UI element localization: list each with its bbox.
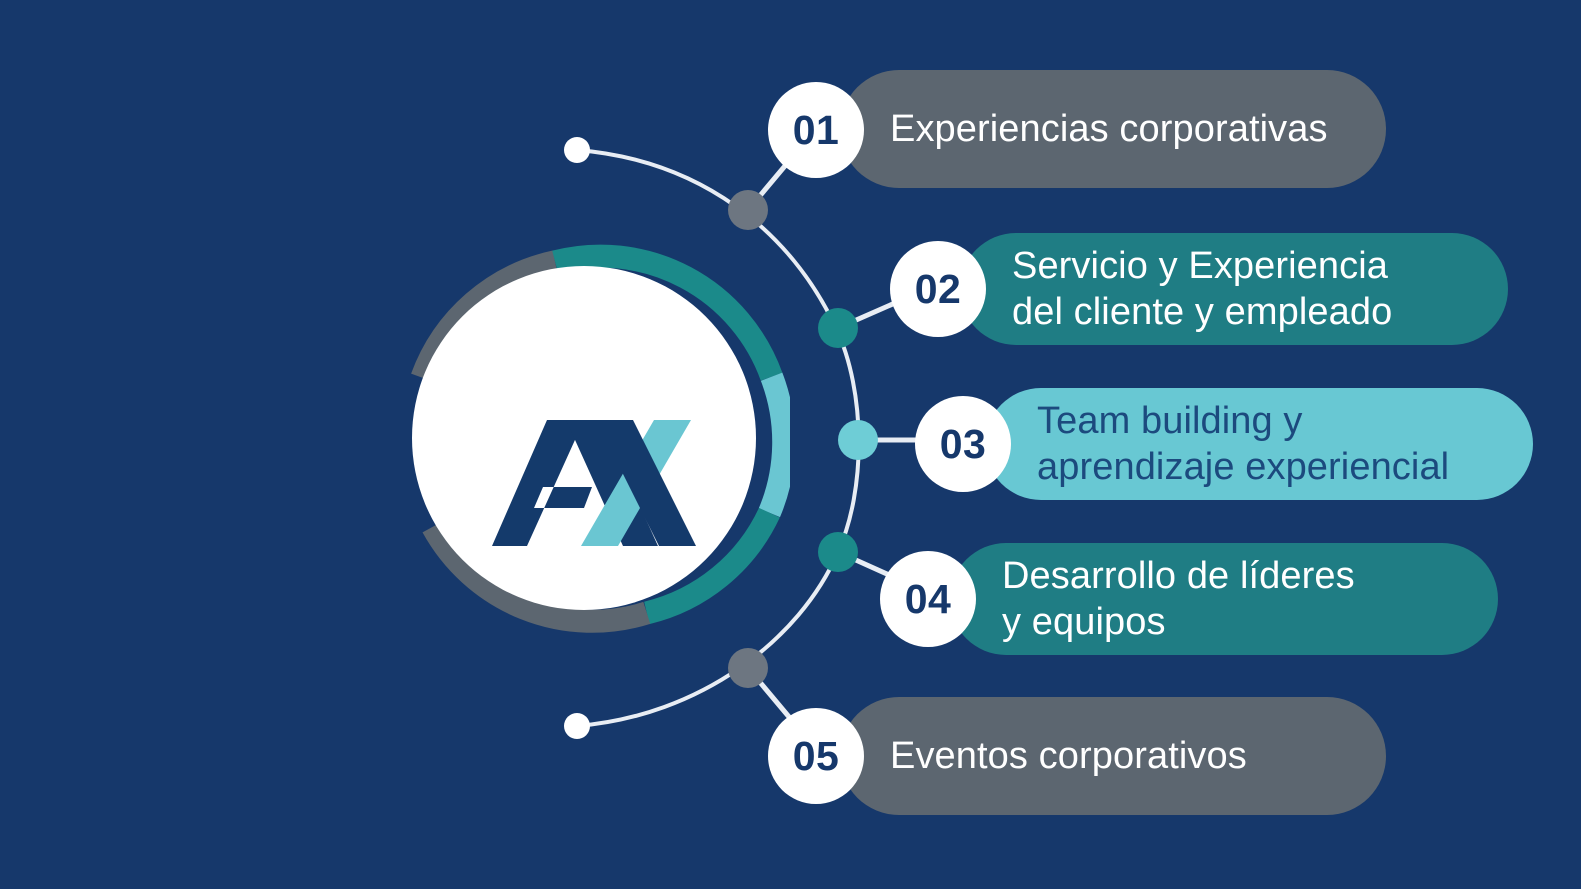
node-dot-05[interactable] bbox=[728, 648, 768, 688]
node-dot-03[interactable] bbox=[838, 420, 878, 460]
node-dot-01[interactable] bbox=[728, 190, 768, 230]
item-number-04: 04 bbox=[905, 576, 952, 623]
node-dot-02[interactable] bbox=[818, 308, 858, 348]
item-label-05: Eventos corporativos bbox=[890, 733, 1247, 779]
item-label-04: Desarrollo de líderes y equipos bbox=[1002, 553, 1355, 646]
ax-logo bbox=[396, 243, 790, 637]
item-pill-03[interactable]: Team building y aprendizaje experiencial bbox=[985, 388, 1533, 500]
item-badge-02[interactable]: 02 bbox=[890, 241, 986, 337]
item-number-02: 02 bbox=[915, 266, 962, 313]
item-number-01: 01 bbox=[793, 107, 840, 154]
item-badge-05[interactable]: 05 bbox=[768, 708, 864, 804]
item-number-05: 05 bbox=[793, 733, 840, 780]
item-pill-01[interactable]: Experiencias corporativas bbox=[840, 70, 1386, 188]
item-pill-02[interactable]: Servicio y Experiencia del cliente y emp… bbox=[960, 233, 1508, 345]
endpoint-dot-top bbox=[564, 137, 590, 163]
item-label-01: Experiencias corporativas bbox=[890, 106, 1328, 152]
infographic-canvas: Experiencias corporativas 01 Servicio y … bbox=[0, 0, 1581, 889]
item-label-02: Servicio y Experiencia del cliente y emp… bbox=[1012, 243, 1392, 336]
item-number-03: 03 bbox=[940, 421, 987, 468]
item-badge-03[interactable]: 03 bbox=[915, 396, 1011, 492]
item-label-03: Team building y aprendizaje experiencial bbox=[1037, 398, 1449, 491]
item-badge-04[interactable]: 04 bbox=[880, 551, 976, 647]
endpoint-dot-bottom bbox=[564, 713, 590, 739]
item-pill-04[interactable]: Desarrollo de líderes y equipos bbox=[950, 543, 1498, 655]
node-dot-04[interactable] bbox=[818, 532, 858, 572]
ax-logo-graphic bbox=[396, 243, 790, 637]
item-badge-01[interactable]: 01 bbox=[768, 82, 864, 178]
ring-segment-middle-cyan bbox=[769, 377, 783, 513]
item-pill-05[interactable]: Eventos corporativos bbox=[840, 697, 1386, 815]
